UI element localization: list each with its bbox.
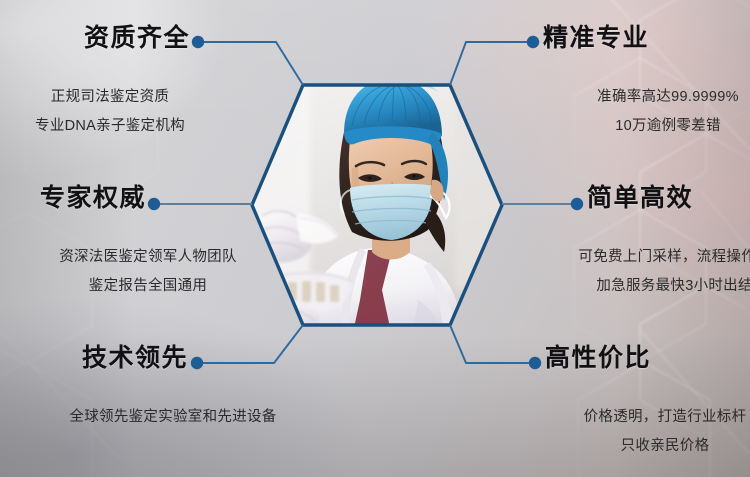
feature-desc-line: 价格透明，打造行业标杆 <box>505 403 750 432</box>
feature-desc-line: 专业DNA亲子鉴定机构 <box>0 112 275 141</box>
feature-banner: 资质齐全 正规司法鉴定资质 专业DNA亲子鉴定机构 专家权威 资深法医鉴定领军人… <box>0 0 750 477</box>
feature-desc-line: 加急服务最快3小时出结果 <box>517 272 750 301</box>
feature-desc-precise-professional: 准确率高达99.9999% 10万逾例零差错 <box>508 83 750 141</box>
feature-title-cost-effective: 高性价比 <box>545 346 745 371</box>
feature-title-simple-efficient: 简单高效 <box>587 186 750 211</box>
feature-desc-line: 正规司法鉴定资质 <box>0 83 275 112</box>
feature-desc-qualifications: 正规司法鉴定资质 专业DNA亲子鉴定机构 <box>0 83 275 141</box>
feature-simple-efficient: 简单高效 可免费上门采样，流程操作简单 加急服务最快3小时出结果 <box>587 186 750 211</box>
feature-desc-simple-efficient: 可免费上门采样，流程操作简单 加急服务最快3小时出结果 <box>517 243 750 301</box>
feature-qualifications: 资质齐全 正规司法鉴定资质 专业DNA亲子鉴定机构 <box>30 26 190 51</box>
feature-expert-authority: 专家权威 资深法医鉴定领军人物团队 鉴定报告全国通用 <box>0 186 146 211</box>
feature-desc-cost-effective: 价格透明，打造行业标杆 只收亲民价格 <box>505 403 750 461</box>
feature-desc-line: 10万逾例零差错 <box>508 112 750 141</box>
feature-title-precise-professional: 精准专业 <box>543 26 743 51</box>
feature-desc-expert-authority: 资深法医鉴定领军人物团队 鉴定报告全国通用 <box>0 243 298 301</box>
feature-title-expert-authority: 专家权威 <box>0 186 146 211</box>
feature-title-tech-leading: 技术领先 <box>28 346 188 371</box>
feature-cost-effective: 高性价比 价格透明，打造行业标杆 只收亲民价格 <box>545 346 745 371</box>
feature-desc-line: 资深法医鉴定领军人物团队 <box>0 243 298 272</box>
feature-desc-tech-leading: 全球领先鉴定实验室和先进设备 <box>8 403 338 432</box>
feature-desc-line: 可免费上门采样，流程操作简单 <box>517 243 750 272</box>
feature-desc-line: 鉴定报告全国通用 <box>0 272 298 301</box>
feature-desc-line: 全球领先鉴定实验室和先进设备 <box>8 403 338 432</box>
feature-title-qualifications: 资质齐全 <box>30 26 190 51</box>
feature-desc-line: 只收亲民价格 <box>505 432 750 461</box>
feature-precise-professional: 精准专业 准确率高达99.9999% 10万逾例零差错 <box>543 26 743 51</box>
feature-desc-line: 准确率高达99.9999% <box>508 83 750 112</box>
feature-tech-leading: 技术领先 全球领先鉴定实验室和先进设备 <box>28 346 188 371</box>
